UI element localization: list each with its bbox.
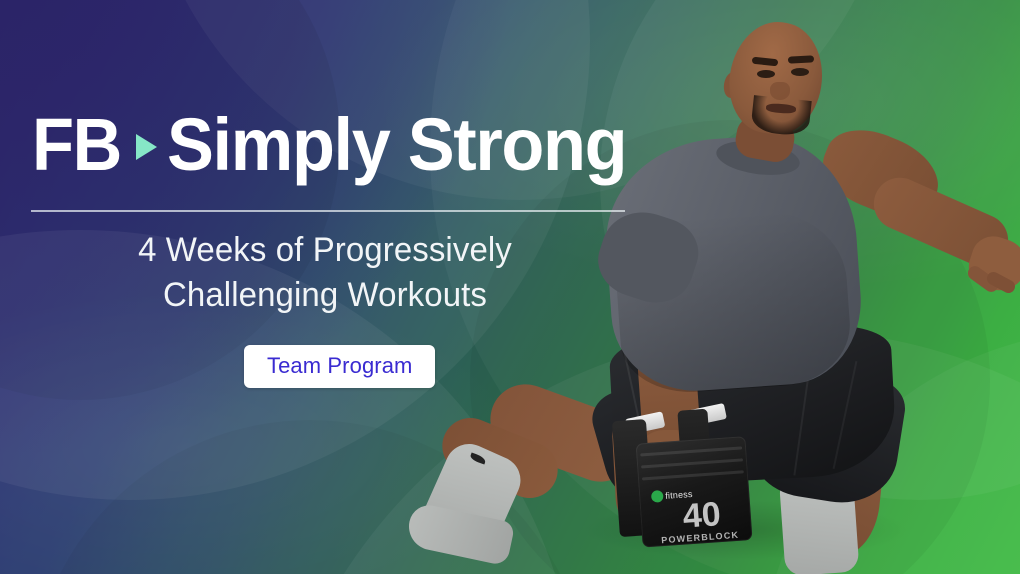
eyebrow bbox=[788, 55, 814, 63]
play-triangle-icon bbox=[136, 134, 157, 160]
subtitle-line-1: 4 Weeks of Progressively bbox=[10, 228, 641, 273]
program-promo-banner: fitness 40 POWERBLOCK FB Simply Strong 4… bbox=[0, 0, 1020, 574]
program-name-text: Simply Strong bbox=[167, 108, 626, 182]
subtitle: 4 Weeks of Progressively Challenging Wor… bbox=[10, 228, 641, 318]
title-divider bbox=[31, 210, 625, 212]
eye bbox=[757, 70, 775, 78]
subtitle-line-2: Challenging Workouts bbox=[10, 273, 641, 318]
brand-prefix-text: FB bbox=[32, 108, 121, 182]
eye bbox=[791, 68, 809, 76]
page-title: FB Simply Strong bbox=[32, 108, 650, 182]
status-badge[interactable]: Team Program bbox=[244, 345, 435, 388]
banner-text-block: FB Simply Strong 4 Weeks of Progressivel… bbox=[0, 0, 660, 574]
